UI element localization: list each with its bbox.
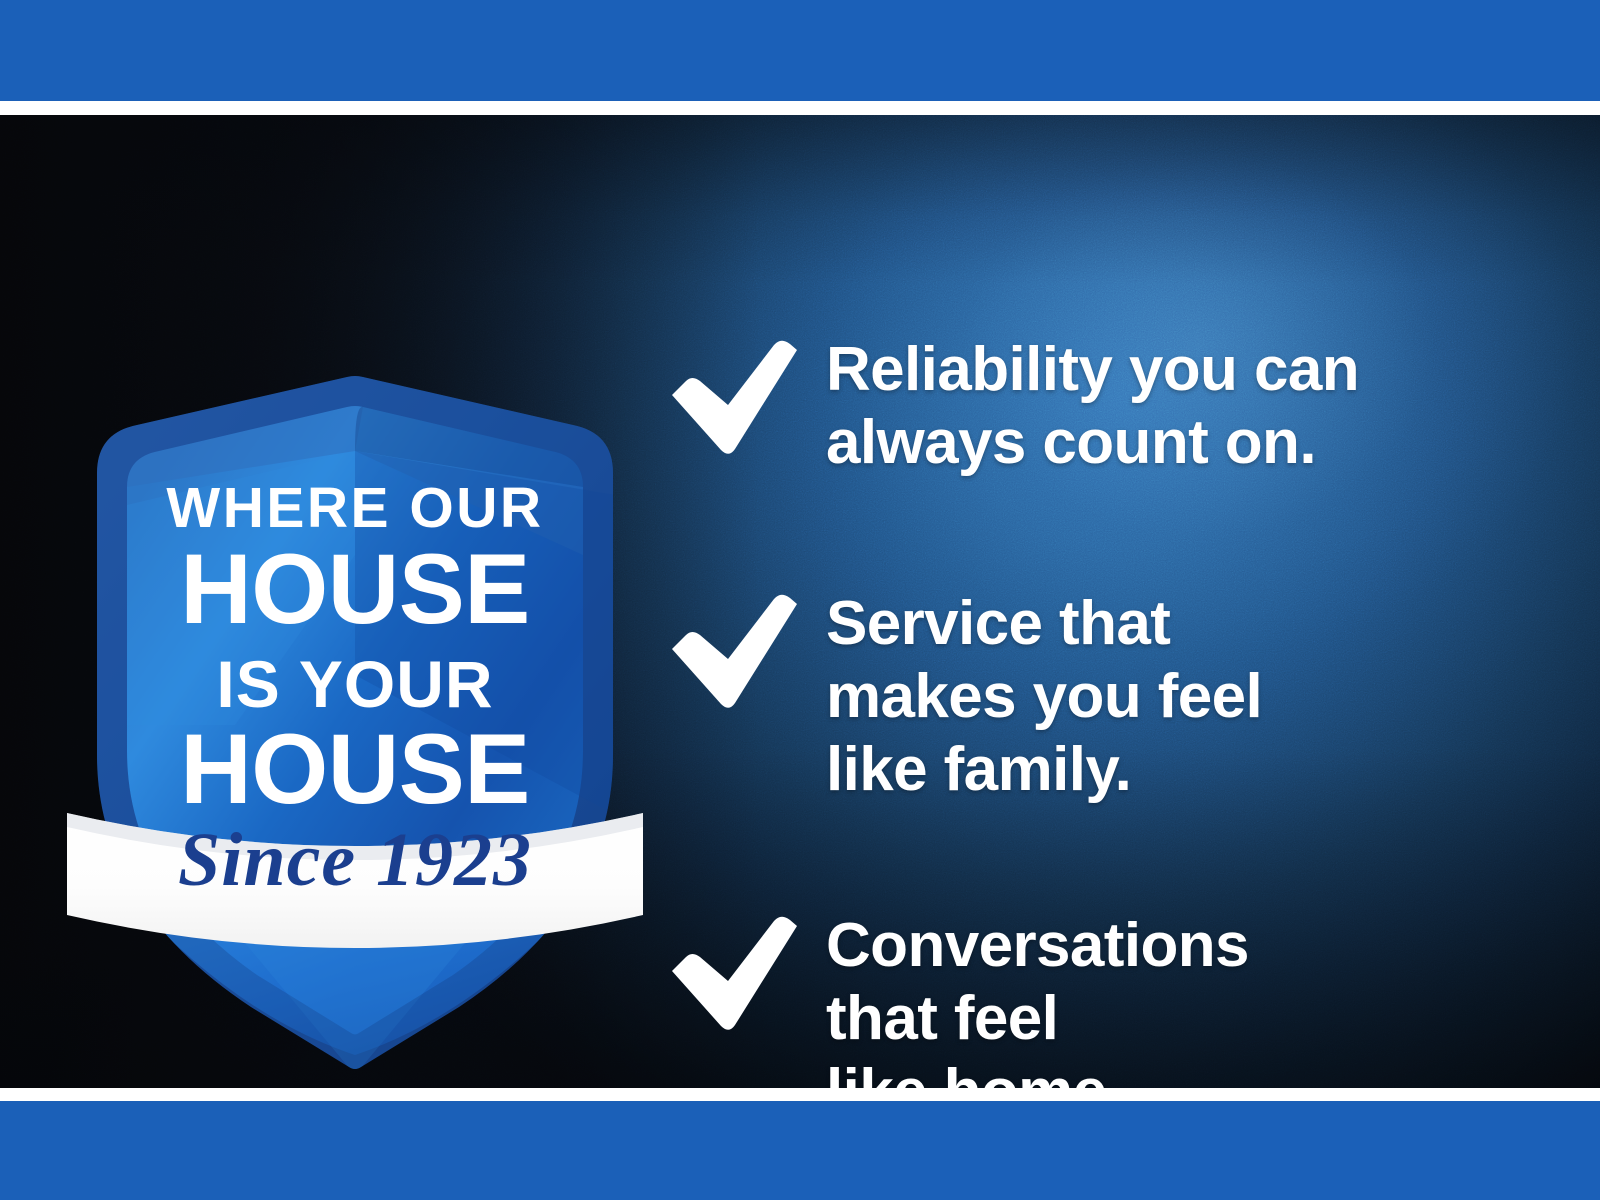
badge-tagline: WHERE OUR HOUSE IS YOUR HOUSE bbox=[166, 476, 543, 824]
list-item-text: Service that makes you feel like family. bbox=[826, 587, 1262, 806]
main-panel: WHERE OUR HOUSE IS YOUR HOUSE Since 1923 bbox=[0, 115, 1600, 1088]
heritage-shield-badge: WHERE OUR HOUSE IS YOUR HOUSE Since 1923 bbox=[55, 255, 655, 1075]
badge-line-1: WHERE OUR bbox=[166, 476, 543, 540]
list-item-text: Reliability you can always count on. bbox=[826, 333, 1359, 479]
promo-graphic: WHERE OUR HOUSE IS YOUR HOUSE Since 1923 bbox=[0, 0, 1600, 1200]
badge-line-2: HOUSE bbox=[180, 533, 530, 644]
benefits-list: Reliability you can always count on. Ser… bbox=[666, 235, 1556, 1088]
badge-line-4: HOUSE bbox=[180, 713, 530, 824]
checkmark-icon bbox=[666, 333, 826, 459]
badge-ribbon-text: Since 1923 bbox=[178, 818, 532, 902]
list-item: Conversations that feel like home. bbox=[666, 909, 1249, 1088]
list-item-text: Conversations that feel like home. bbox=[826, 909, 1249, 1088]
bottom-white-divider bbox=[0, 1088, 1600, 1101]
list-item: Service that makes you feel like family. bbox=[666, 587, 1262, 806]
top-brand-bar bbox=[0, 0, 1600, 101]
bottom-brand-bar bbox=[0, 1101, 1600, 1200]
checkmark-icon bbox=[666, 587, 826, 713]
top-white-divider bbox=[0, 101, 1600, 115]
list-item: Reliability you can always count on. bbox=[666, 333, 1359, 479]
checkmark-icon bbox=[666, 909, 826, 1035]
badge-ribbon: Since 1923 bbox=[67, 813, 643, 948]
badge-line-3: IS YOUR bbox=[216, 647, 493, 721]
